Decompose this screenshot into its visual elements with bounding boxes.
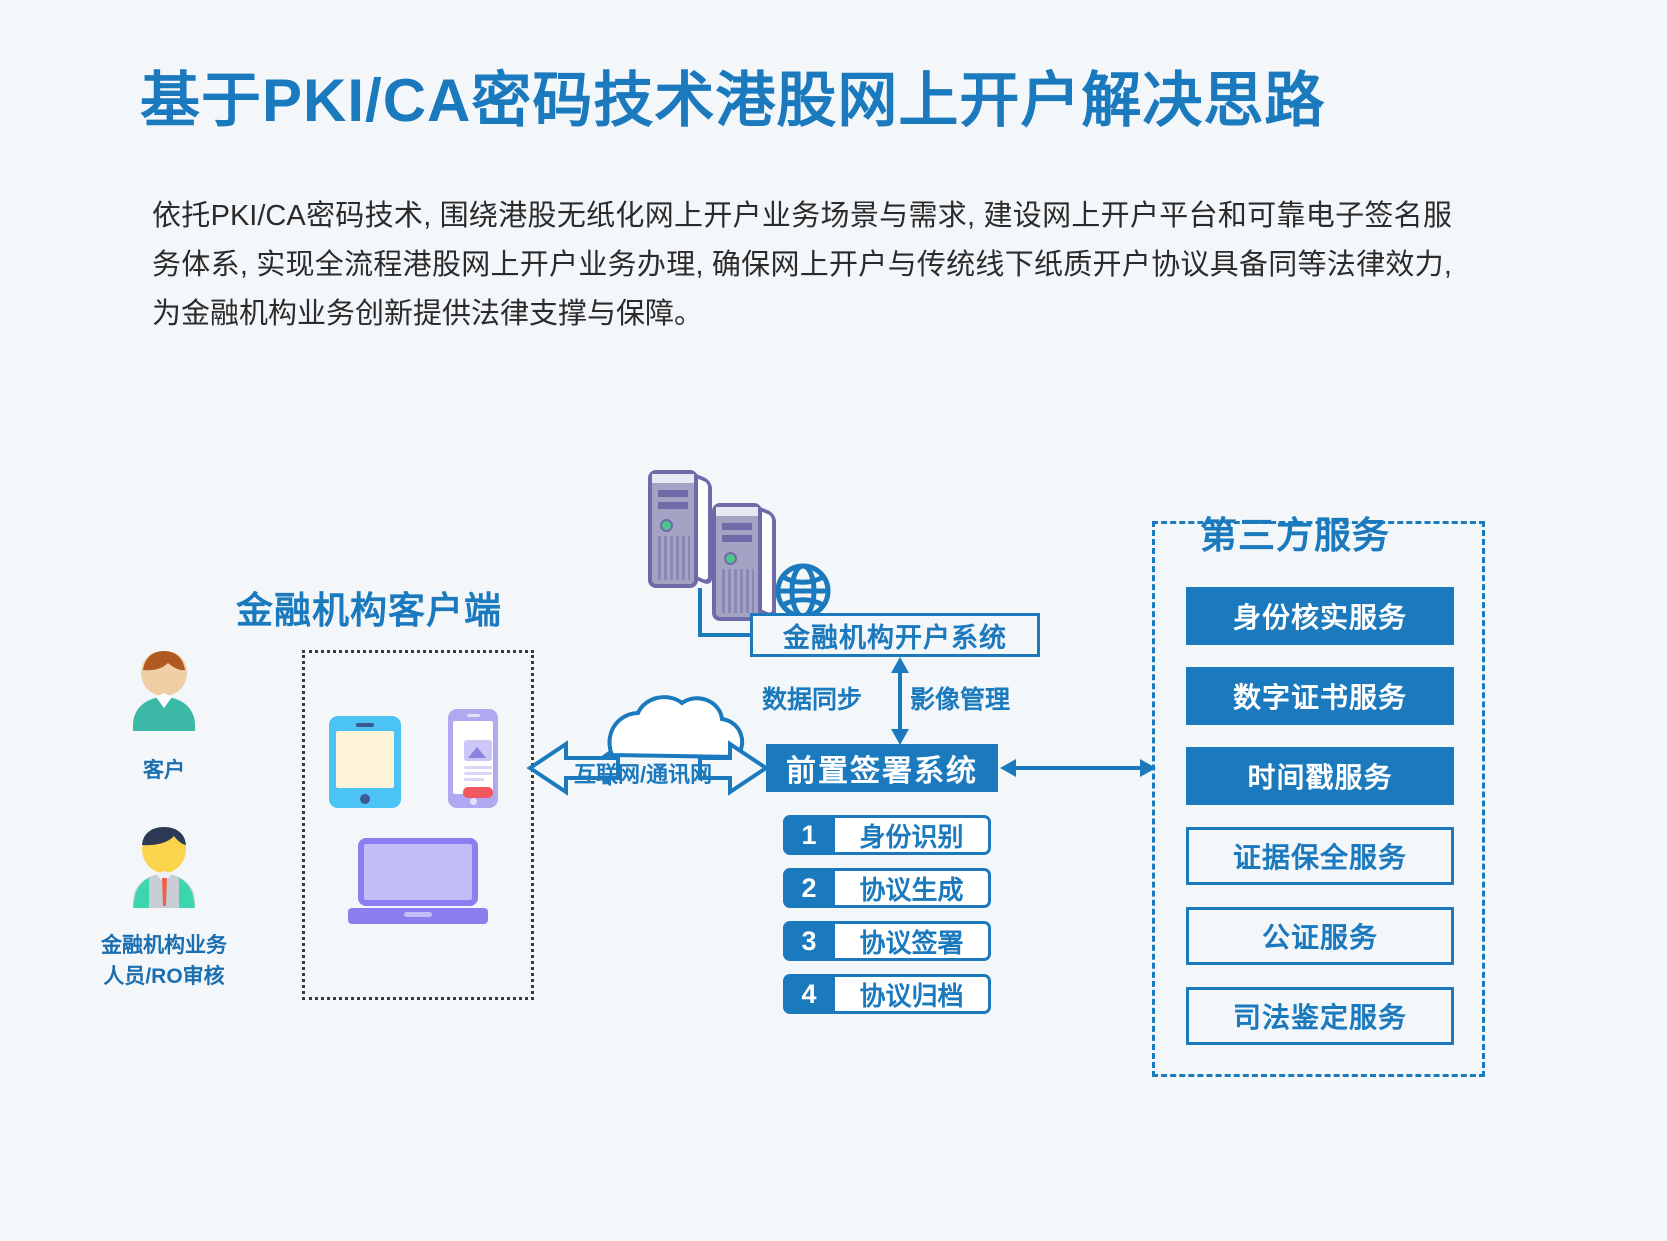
customer-avatar-icon xyxy=(118,645,210,737)
step-number: 4 xyxy=(783,974,835,1014)
service-item-evidence-preservation[interactable]: 证据保全服务 xyxy=(1186,827,1454,885)
service-item-timestamp[interactable]: 时间戳服务 xyxy=(1186,747,1454,805)
server-stack-icon xyxy=(648,470,714,588)
staff-avatar-label-line2: 人员/RO审核 xyxy=(88,961,240,992)
signing-step-4[interactable]: 4 协议归档 xyxy=(783,974,991,1014)
signing-step-3[interactable]: 3 协议签署 xyxy=(783,921,991,961)
signing-step-1[interactable]: 1 身份识别 xyxy=(783,815,991,855)
service-item-identity-verification[interactable]: 身份核实服务 xyxy=(1186,587,1454,645)
data-sync-label: 数据同步 xyxy=(762,680,862,716)
institution-system-box[interactable]: 金融机构开户系统 xyxy=(750,613,1040,657)
tablet-icon xyxy=(329,716,401,808)
infographic-canvas: 基于PKI/CA密码技术港股网上开户解决思路 依托PKI/CA密码技术, 围绕港… xyxy=(0,0,1667,1241)
server-secondary-icon xyxy=(712,503,778,621)
step-label: 协议归档 xyxy=(835,974,991,1014)
front-signing-system-box[interactable]: 前置签署系统 xyxy=(766,744,998,792)
service-item-judicial-appraisal[interactable]: 司法鉴定服务 xyxy=(1186,987,1454,1045)
internet-cloud-label: 互联网/通讯网 xyxy=(574,757,710,789)
staff-avatar-label-line1: 金融机构业务 xyxy=(88,930,240,961)
service-item-digital-certificate[interactable]: 数字证书服务 xyxy=(1186,667,1454,725)
page-title: 基于PKI/CA密码技术港股网上开户解决思路 xyxy=(140,66,1560,135)
staff-avatar-icon xyxy=(118,820,210,912)
service-item-notarization[interactable]: 公证服务 xyxy=(1186,907,1454,965)
step-label: 身份识别 xyxy=(835,815,991,855)
step-label: 协议签署 xyxy=(835,921,991,961)
globe-icon xyxy=(774,562,832,620)
page-description: 依托PKI/CA密码技术, 围绕港股无纸化网上开户业务场景与需求, 建设网上开户… xyxy=(152,192,1452,339)
step-label: 协议生成 xyxy=(835,868,991,908)
client-section-heading: 金融机构客户端 xyxy=(236,580,502,634)
signing-step-2[interactable]: 2 协议生成 xyxy=(783,868,991,908)
step-number: 1 xyxy=(783,815,835,855)
client-devices-boundary xyxy=(302,650,534,1000)
laptop-icon xyxy=(348,838,488,928)
step-number: 2 xyxy=(783,868,835,908)
customer-avatar-label: 客户 xyxy=(118,755,210,786)
image-management-label: 影像管理 xyxy=(910,680,1010,716)
smartphone-icon xyxy=(448,709,498,808)
step-number: 3 xyxy=(783,921,835,961)
